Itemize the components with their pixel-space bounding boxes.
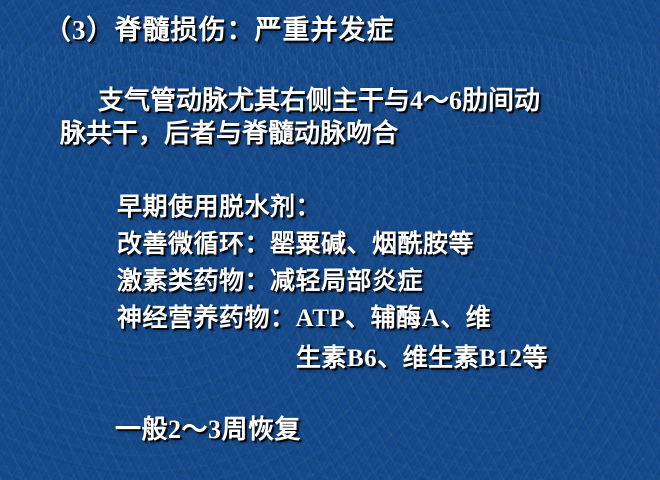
treatment-item-vitamins-continuation: 生素B6、维生素B12等 [296,338,548,374]
body-paragraph-line-2: 脉共干，后者与脊髓动脉吻合 [60,113,398,150]
recovery-time-note: 一般2～3周恢复 [115,409,301,446]
slide-title: （3）脊髓损伤：严重并发症 [44,8,395,47]
slide-content: （3）脊髓损伤：严重并发症 支气管动脉尤其右侧主干与4～6肋间动 脉共干，后者与… [0,0,660,480]
treatment-item-hormone-drugs: 激素类药物：减轻局部炎症 [117,261,423,297]
treatment-item-dehydrating-agents: 早期使用脱水剂： [117,187,321,223]
presentation-slide: （3）脊髓损伤：严重并发症 支气管动脉尤其右侧主干与4～6肋间动 脉共干，后者与… [0,0,660,480]
treatment-item-microcirculation: 改善微循环：罂粟碱、烟酰胺等 [117,224,474,260]
body-paragraph-line-1: 支气管动脉尤其右侧主干与4～6肋间动 [98,80,540,117]
treatment-item-neurotrophic-drugs: 神经营养药物：ATP、辅酶A、维 [117,298,491,334]
